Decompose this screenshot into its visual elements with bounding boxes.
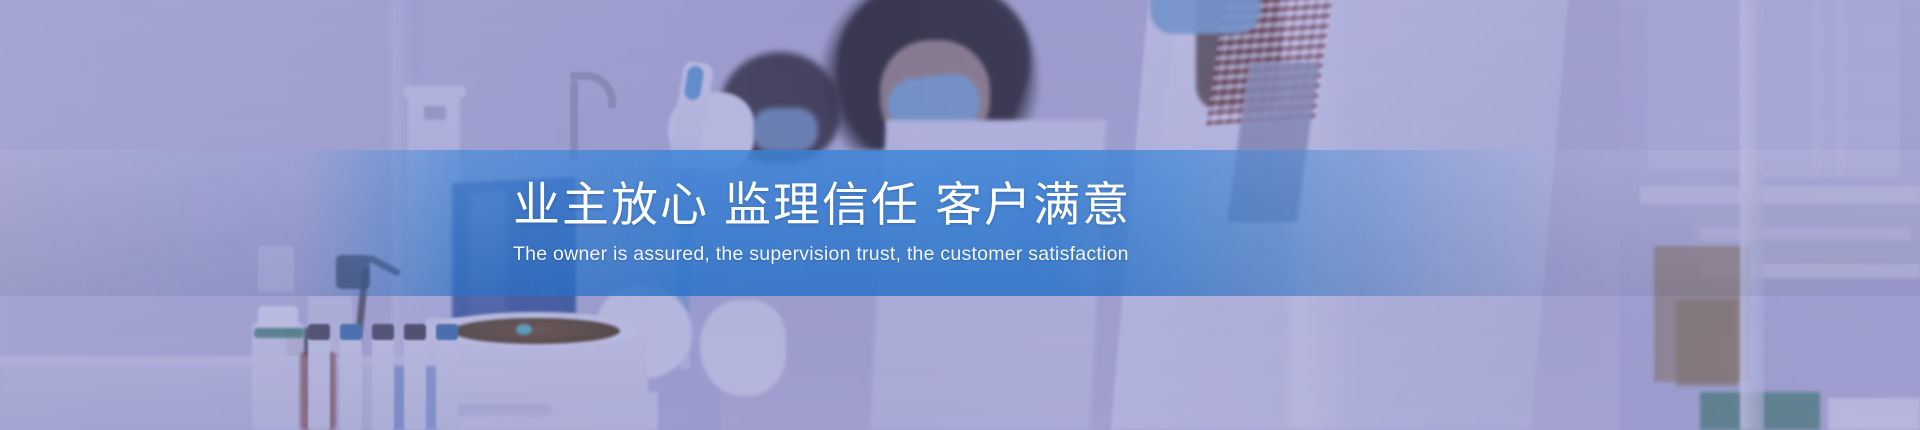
banner-subheadline: The owner is assured, the supervision tr…: [513, 243, 1129, 266]
hero-banner: 业主放心 监理信任 客户满意 The owner is assured, the…: [0, 0, 1920, 430]
caption-block: 业主放心 监理信任 客户满意 The owner is assured, the…: [0, 150, 1920, 296]
banner-headline: 业主放心 监理信任 客户满意: [513, 180, 1131, 231]
